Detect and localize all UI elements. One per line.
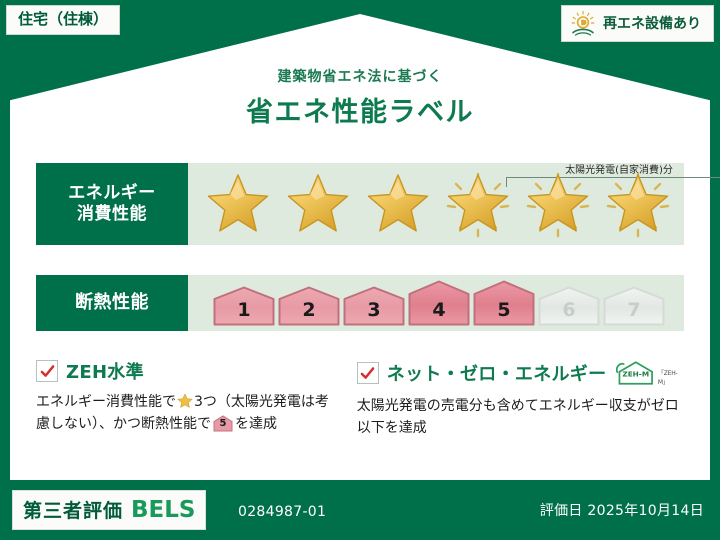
insulation-block-7: 7 [603,286,665,326]
zeh-m-logo: ZEH-M 「ZEH-M」 [616,358,684,388]
zeh-m-logo-caption: 「ZEH-M」 [658,368,684,386]
row-insulation-key-label: 断熱性能 [75,292,149,315]
star-icon-filled [199,167,277,241]
checkbox-zeh-standard[interactable] [36,360,58,382]
insulation-block-2: 2 [278,286,340,326]
label-footer: 第三者評価 BELS 0284987-01 評価日 2025年10月14日 [0,482,720,540]
insulation-block-label: 5 [473,299,535,321]
check-icon [40,364,55,379]
badge-renewable-equipment: 再エネ設備あり [561,5,714,42]
star-icon-filled [359,167,437,241]
zeh-m-house-icon: ZEH-M [616,358,656,388]
sun-solar-icon [569,10,597,36]
badge-dwelling-type: 住宅（住棟） [6,5,120,35]
svg-text:ZEH-M: ZEH-M [623,369,650,378]
badge-dwelling-type-label: 住宅（住棟） [18,10,108,28]
bels-en-label: BELS [131,497,195,523]
insulation-block-label: 1 [213,299,275,321]
row-insulation-key: 断熱性能 [36,275,188,331]
insulation-block-label: 3 [343,299,405,321]
insulation-block-label: 4 [408,299,470,321]
insulation-block-5: 5 [473,280,535,326]
checkbox-net-zero-energy[interactable] [357,362,379,384]
check-icon [360,366,375,381]
label-title-block: 建築物省エネ法に基づく 省エネ性能ラベル [0,66,720,129]
insulation-block-3: 3 [343,286,405,326]
criterion-zeh-header: ZEH水準 [36,358,343,384]
criterion-nze-description: 太陽光発電の売電分も含めてエネルギー収支がゼロ以下を達成 [357,396,684,439]
star-icon-solar [599,167,677,241]
insulation-block-label: 6 [538,299,600,321]
label-subtitle: 建築物省エネ法に基づく [0,66,720,86]
inline-insulation-block-label: 5 [213,416,233,432]
criterion-zeh-standard: ZEH水準 エネルギー消費性能で3つ（太陽光発電は考慮しない）、かつ断熱性能で5… [36,358,343,439]
inline-star-icon [177,393,193,409]
insulation-block-label: 7 [603,299,665,321]
star-icon-solar [519,167,597,241]
star-icon-filled [279,167,357,241]
criterion-zeh-title: ZEH水準 [66,358,144,384]
criterion-zeh-text-1: エネルギー消費性能で [36,394,176,410]
row-energy-key-line1: エネルギー [68,183,156,204]
inline-insulation-block: 5 [213,415,233,432]
energy-label-root: 住宅（住棟） 再エネ設備あり 建築 [0,0,720,540]
criterion-zeh-text-3: を達成 [235,416,277,432]
criteria-section: ZEH水準 エネルギー消費性能で3つ（太陽光発電は考慮しない）、かつ断熱性能で5… [36,358,684,439]
insulation-grade-blocks: 1 2 [207,280,665,326]
insulation-block-label: 2 [278,299,340,321]
label-main-title: 省エネ性能ラベル [0,90,720,129]
bels-certificate-number: 0284987-01 [238,504,326,520]
star-icon-solar [439,167,517,241]
row-energy-key: エネルギー 消費性能 [36,163,188,245]
bels-evaluation-box: 第三者評価 BELS [12,490,206,530]
row-energy-key-line2: 消費性能 [77,204,147,225]
row-energy-performance: エネルギー 消費性能 太陽光発電(自家消費)分 [36,163,684,245]
criterion-zeh-description: エネルギー消費性能で3つ（太陽光発電は考慮しない）、かつ断熱性能で5を達成 [36,392,343,435]
row-energy-value: 太陽光発電(自家消費)分 [188,163,684,245]
row-insulation-value: 1 2 [188,275,684,331]
evaluation-date: 評価日 2025年10月14日 [540,500,704,520]
row-insulation-performance: 断熱性能 1 [36,275,684,331]
criterion-nze-header: ネット・ゼロ・エネルギー ZEH-M 「ZEH-M」 [357,358,684,388]
insulation-block-4: 4 [408,280,470,326]
insulation-block-6: 6 [538,286,600,326]
criterion-net-zero-energy: ネット・ゼロ・エネルギー ZEH-M 「ZEH-M」 太陽光発電の売電分も含めて… [357,358,684,439]
criterion-nze-title: ネット・ゼロ・エネルギー [387,360,607,386]
insulation-block-1: 1 [213,286,275,326]
badge-renewable-label: 再エネ設備あり [603,13,701,33]
bels-jp-label: 第三者評価 [23,496,123,523]
energy-star-rating [195,167,677,241]
